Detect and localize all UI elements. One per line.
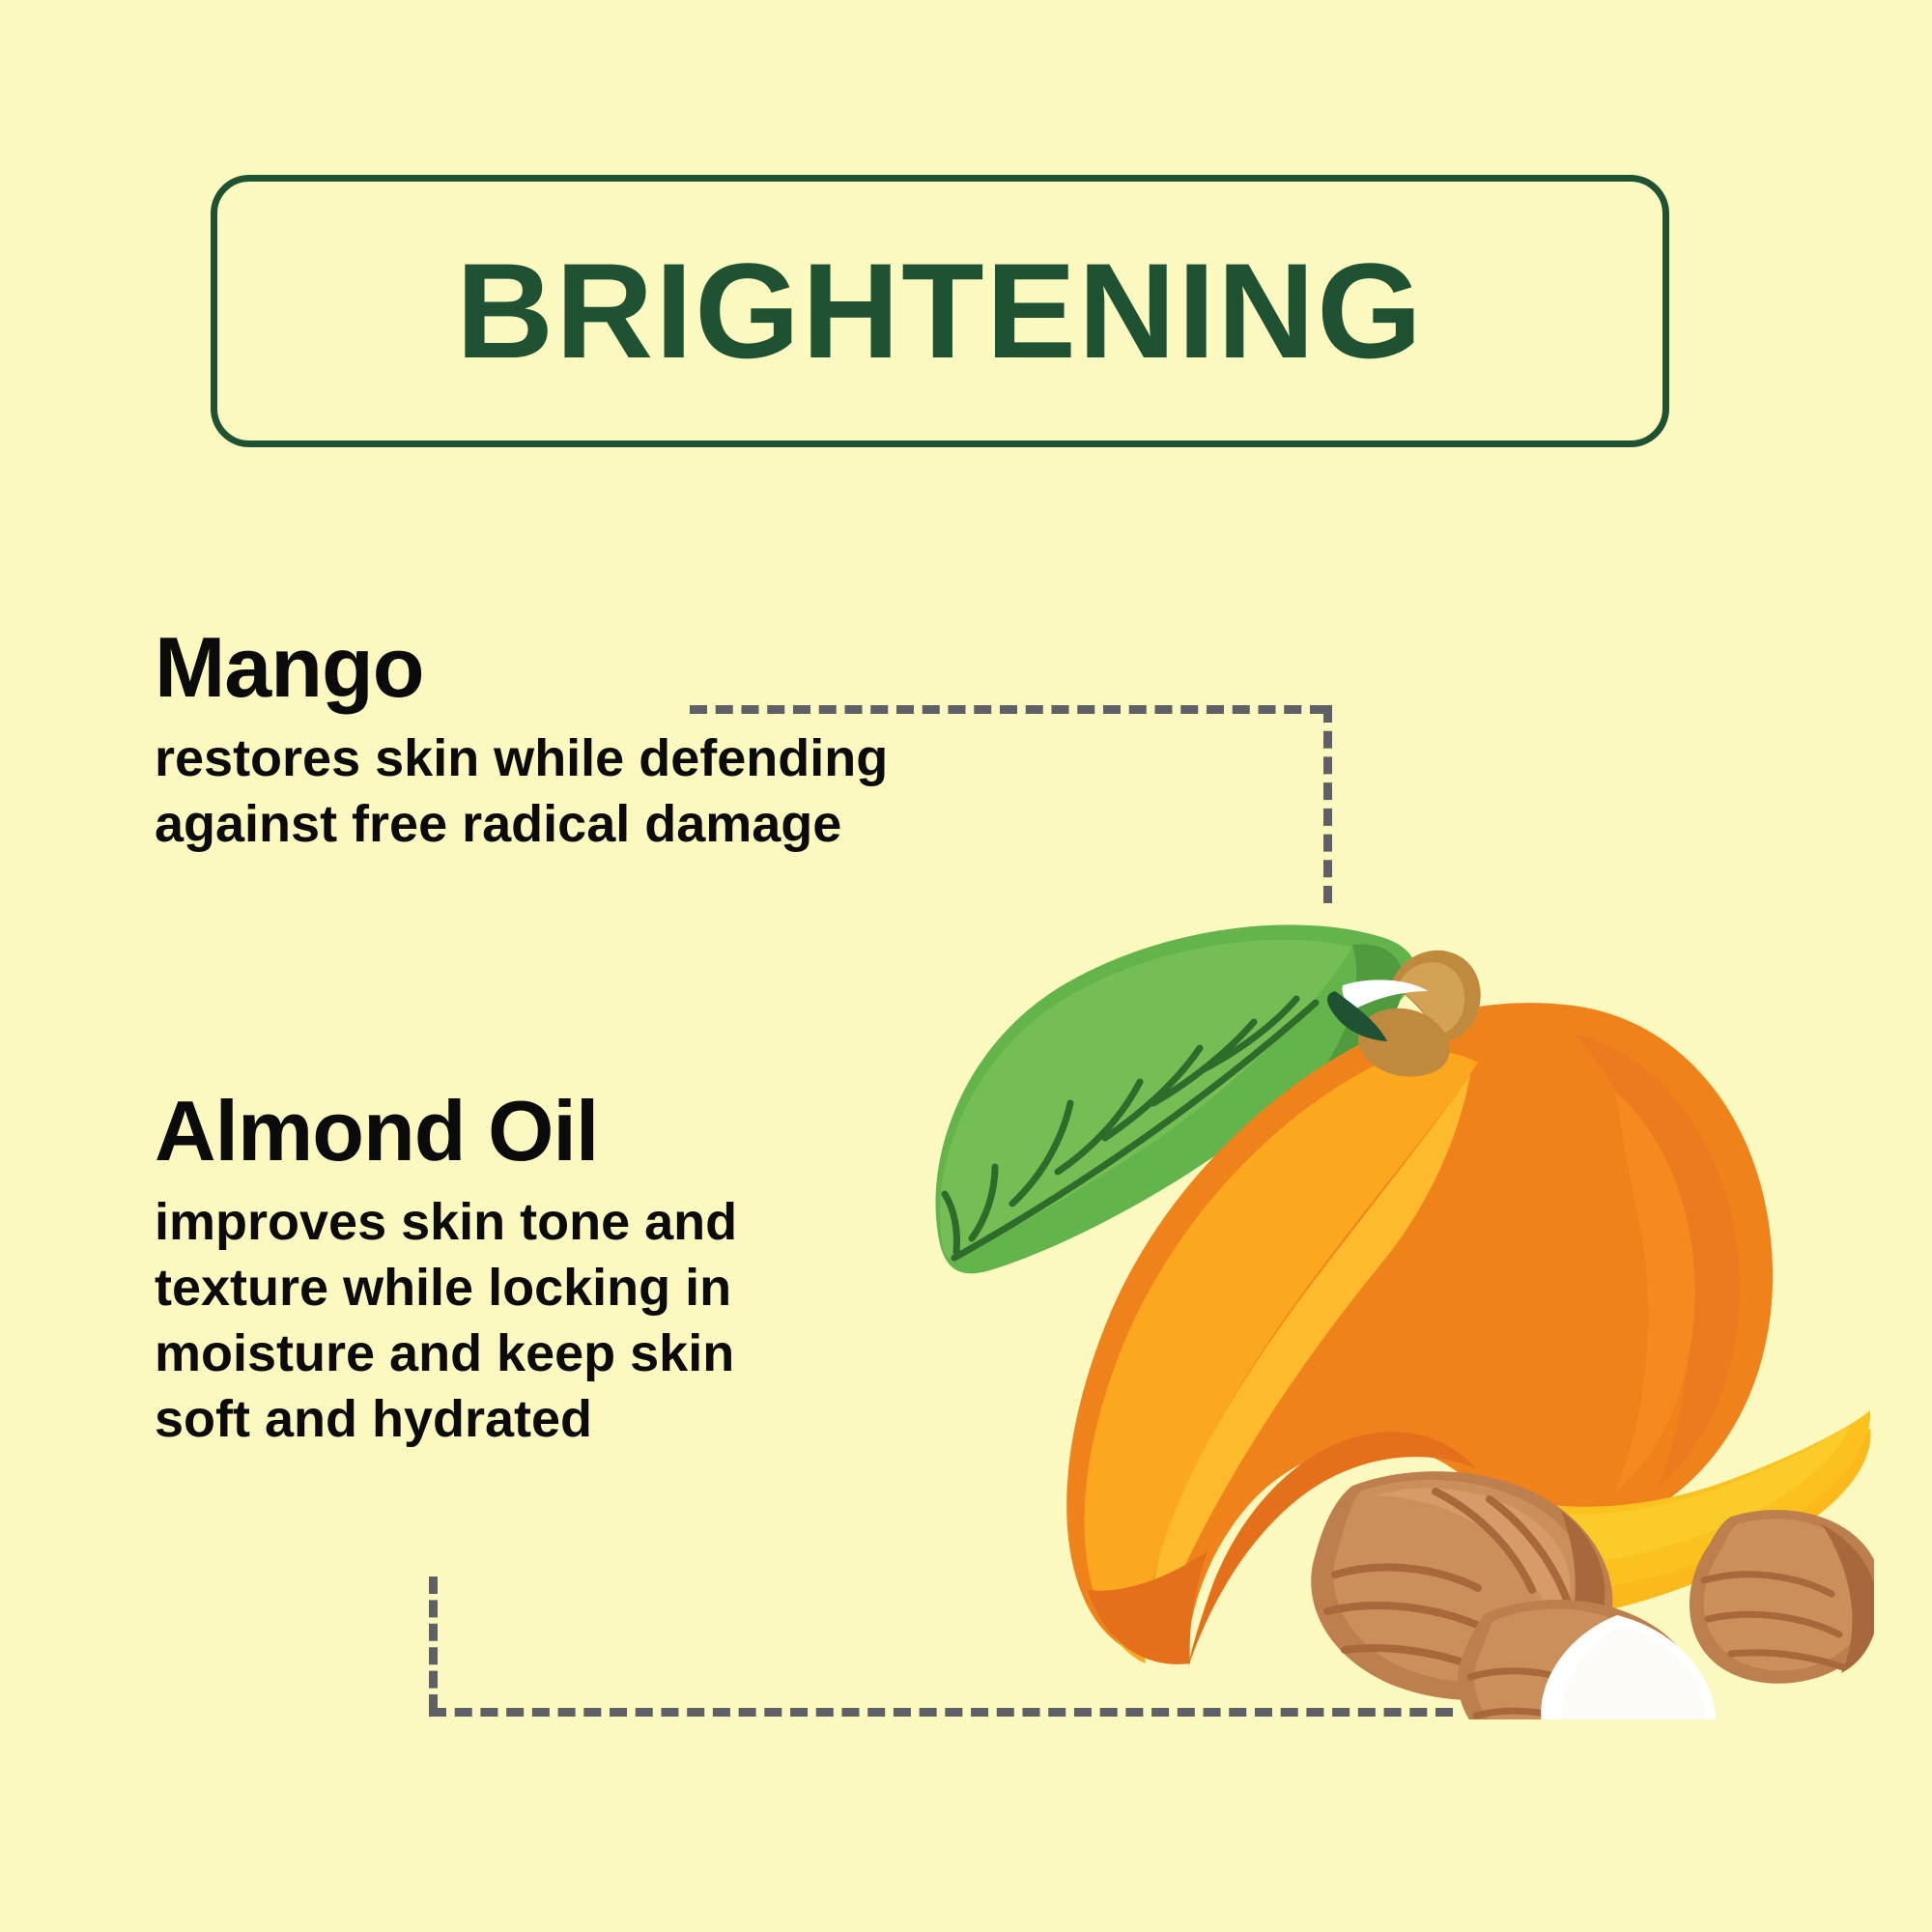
page-title: BRIGHTENING (456, 243, 1424, 379)
ingredient-description-line: texture while locking in (155, 1255, 947, 1321)
ingredient-name-mango: Mango (155, 623, 1121, 712)
ingredient-description-line: against free radical damage (155, 791, 1121, 857)
almond-cut-open-icon (1458, 1600, 1716, 1719)
ingredient-block-almond-oil: Almond Oil improves skin tone and textur… (155, 1087, 947, 1453)
ingredient-description-line: restores skin while defending (155, 725, 1121, 791)
connector-line-almond-vertical (429, 1577, 438, 1712)
connector-line-mango-vertical (1323, 705, 1332, 903)
poster-canvas: BRIGHTENING Mango restores skin while de… (0, 0, 1932, 1932)
mango-and-almonds-illustration (898, 898, 1874, 1719)
ingredient-description-line: moisture and keep skin (155, 1321, 947, 1386)
header-title-box: BRIGHTENING (211, 175, 1669, 447)
connector-line-mango-horizontal (690, 705, 1327, 714)
ingredient-description-line: soft and hydrated (155, 1386, 947, 1452)
ingredient-description-almond-oil: improves skin tone and texture while loc… (155, 1189, 947, 1452)
almond-whole-small-icon (1690, 1510, 1874, 1684)
ingredient-name-almond-oil: Almond Oil (155, 1087, 947, 1176)
ingredient-description-line: improves skin tone and (155, 1189, 947, 1255)
ingredient-block-mango: Mango restores skin while defending agai… (155, 623, 1121, 857)
ingredient-description-mango: restores skin while defending against fr… (155, 725, 1121, 857)
